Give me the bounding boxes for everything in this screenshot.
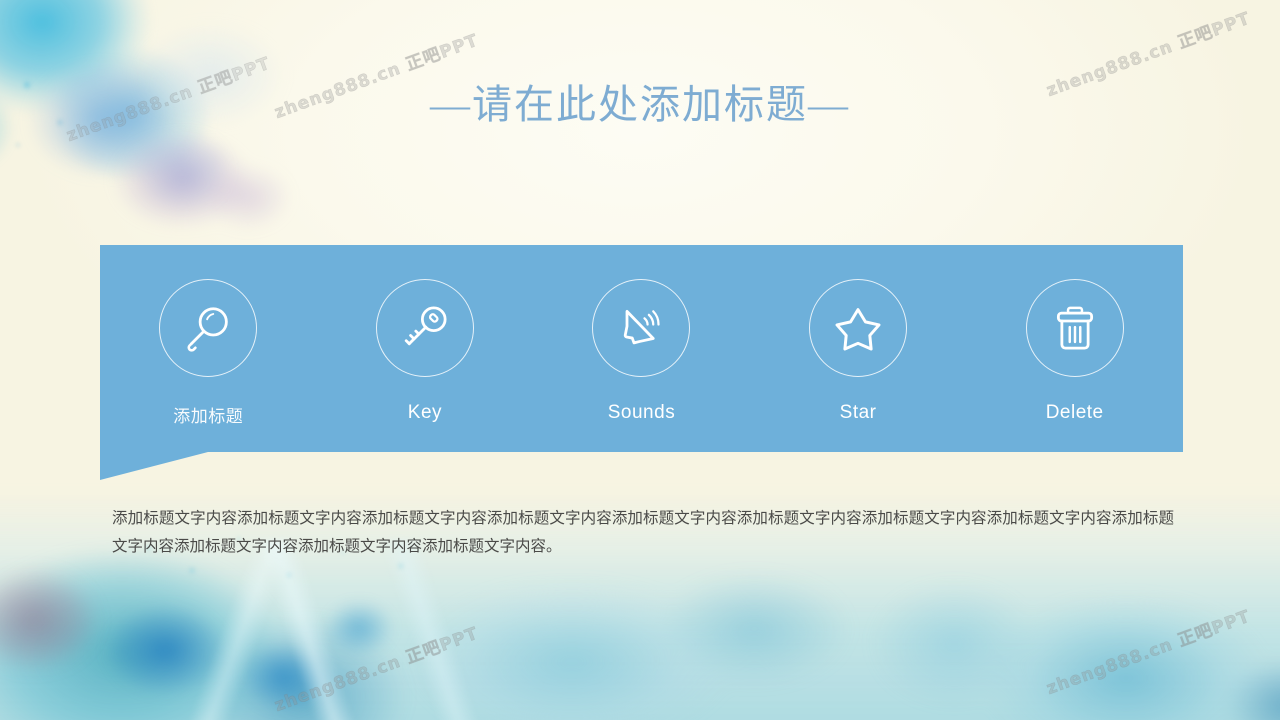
watermark-bottom-left: zheng888.cn 正吧PPT (270, 619, 481, 716)
sound-muted-icon-circle[interactable] (592, 279, 690, 377)
slide-canvas: zheng888.cn 正吧PPT zheng888.cn 正吧PPT zhen… (0, 0, 1280, 720)
trash-icon-circle[interactable] (1026, 279, 1124, 377)
watercolor-bottom-streaks (60, 540, 680, 720)
search-icon-circle[interactable] (159, 279, 257, 377)
feature-item-sounds[interactable]: Sounds (551, 279, 731, 424)
trash-icon (1047, 300, 1103, 356)
star-icon (830, 300, 886, 356)
feature-item-star[interactable]: Star (768, 279, 948, 424)
feature-item-label: Sounds (608, 402, 675, 424)
feature-item-row: 添加标题 Key (100, 245, 1183, 452)
key-icon-circle[interactable] (376, 279, 474, 377)
page-title: —请在此处添加标题— (0, 72, 1280, 130)
feature-item-label: Key (408, 402, 442, 424)
feature-item-label: Star (840, 402, 877, 424)
watermark-bottom-right: zheng888.cn 正吧PPT (1042, 602, 1253, 699)
feature-item-delete[interactable]: Delete (985, 279, 1165, 424)
watercolor-bottom-left-blobs (40, 540, 460, 720)
key-icon (397, 300, 453, 356)
watercolor-bottom-right (840, 540, 1280, 720)
search-icon (180, 300, 236, 356)
star-icon-circle[interactable] (809, 279, 907, 377)
feature-item-key[interactable]: Key (335, 279, 515, 424)
feature-item-label: Delete (1046, 402, 1104, 424)
watercolor-top-left-blue (10, 30, 240, 230)
feature-item-label: 添加标题 (173, 402, 243, 427)
feature-item-search[interactable]: 添加标题 (118, 279, 298, 427)
body-paragraph: 添加标题文字内容添加标题文字内容添加标题文字内容添加标题文字内容添加标题文字内容… (112, 505, 1174, 561)
sound-muted-icon (613, 300, 669, 356)
banner-tail-pointer (100, 452, 316, 480)
